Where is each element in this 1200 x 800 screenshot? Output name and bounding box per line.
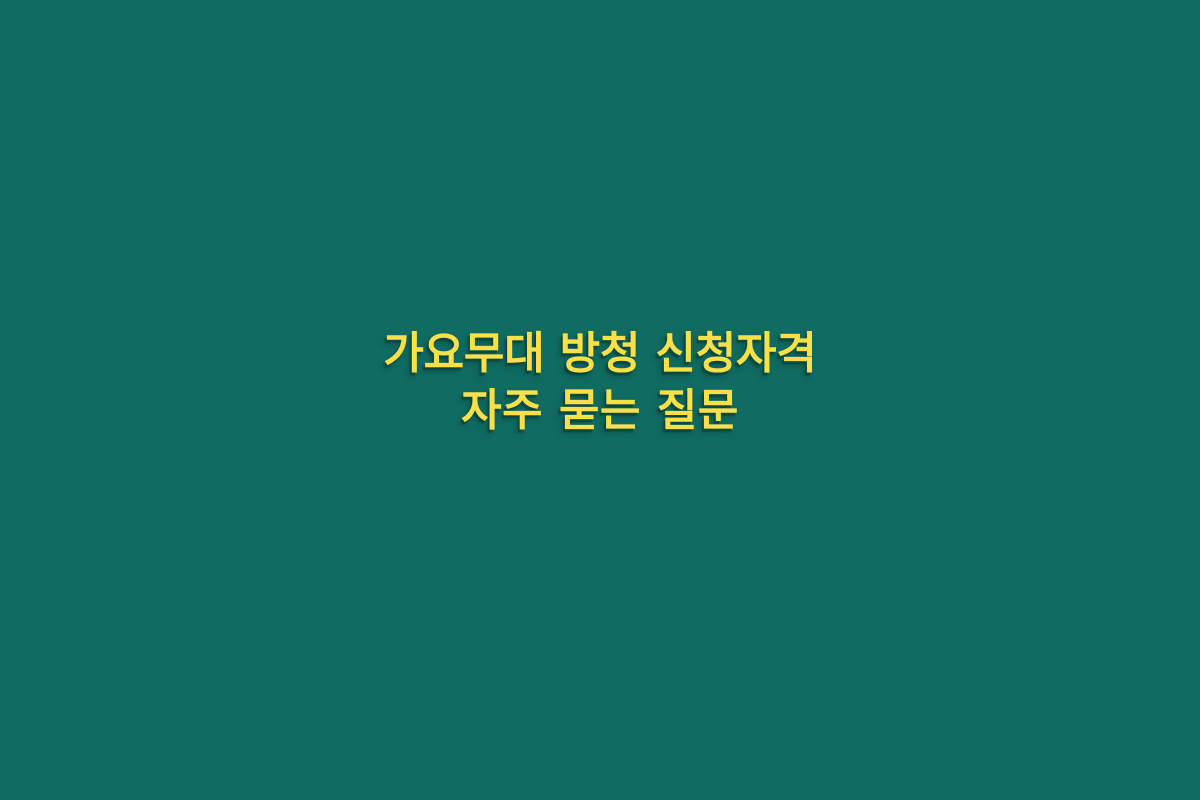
headline-line-secondary: 자주 묻는 질문: [0, 386, 1200, 435]
poster-canvas: 가요무대 방청 신청자격 자주 묻는 질문: [0, 0, 1200, 800]
headline-line-primary: 가요무대 방청 신청자격: [0, 329, 1200, 378]
headline-block: 가요무대 방청 신청자격 자주 묻는 질문: [0, 329, 1200, 436]
